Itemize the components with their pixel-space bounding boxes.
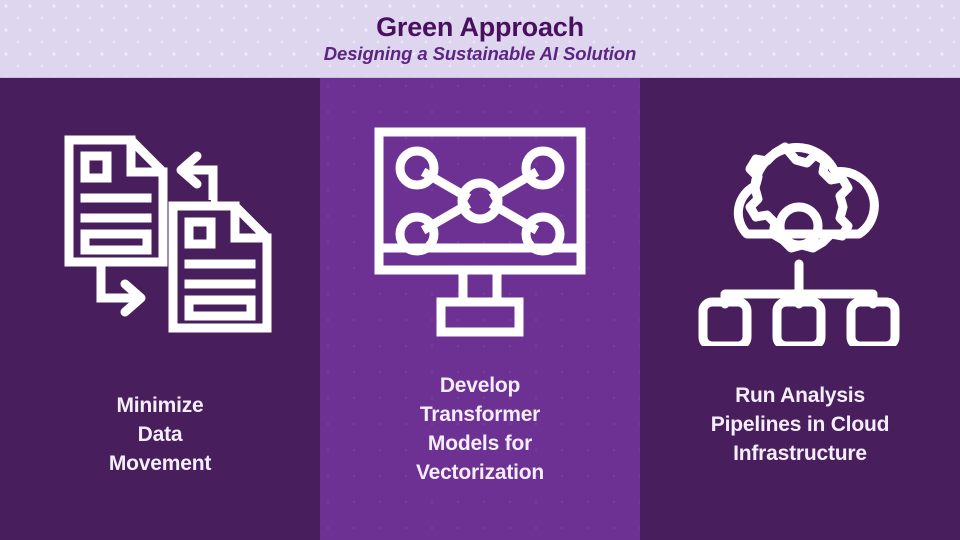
column-caption-1: Minimize Data Movement [93, 392, 227, 479]
caption-line: Models for [416, 430, 544, 459]
caption-line: Minimize [109, 392, 211, 421]
icon-wrap-1 [45, 106, 275, 356]
column-caption-3: Run Analysis Pipelines in Cloud Infrastr… [695, 382, 905, 469]
document-transfer-icon [45, 116, 275, 346]
column-caption-2: Develop Transformer Models for Vectoriza… [400, 372, 560, 488]
caption-line: Movement [109, 450, 211, 479]
caption-line: Run Analysis [711, 382, 889, 411]
page-subtitle: Designing a Sustainable AI Solution [324, 44, 636, 63]
column-run-analysis-pipelines[interactable]: Run Analysis Pipelines in Cloud Infrastr… [640, 78, 960, 540]
page-title: Green Approach [376, 13, 584, 41]
network-monitor-icon [365, 116, 595, 346]
caption-line: Vectorization [416, 459, 544, 488]
cloud-gear-network-icon [685, 116, 915, 346]
caption-line: Develop [416, 372, 544, 401]
header-band: Green Approach Designing a Sustainable A… [0, 0, 960, 78]
icon-wrap-2 [365, 106, 595, 356]
caption-line: Data [109, 421, 211, 450]
slide-root: Green Approach Designing a Sustainable A… [0, 0, 960, 540]
caption-line: Infrastructure [711, 440, 889, 469]
icon-wrap-3 [685, 106, 915, 356]
column-minimize-data-movement[interactable]: Minimize Data Movement [0, 78, 320, 540]
caption-line: Transformer [416, 401, 544, 430]
caption-line: Pipelines in Cloud [711, 411, 889, 440]
column-develop-transformer-models[interactable]: Develop Transformer Models for Vectoriza… [320, 78, 640, 540]
column-container: Minimize Data Movement [0, 78, 960, 540]
